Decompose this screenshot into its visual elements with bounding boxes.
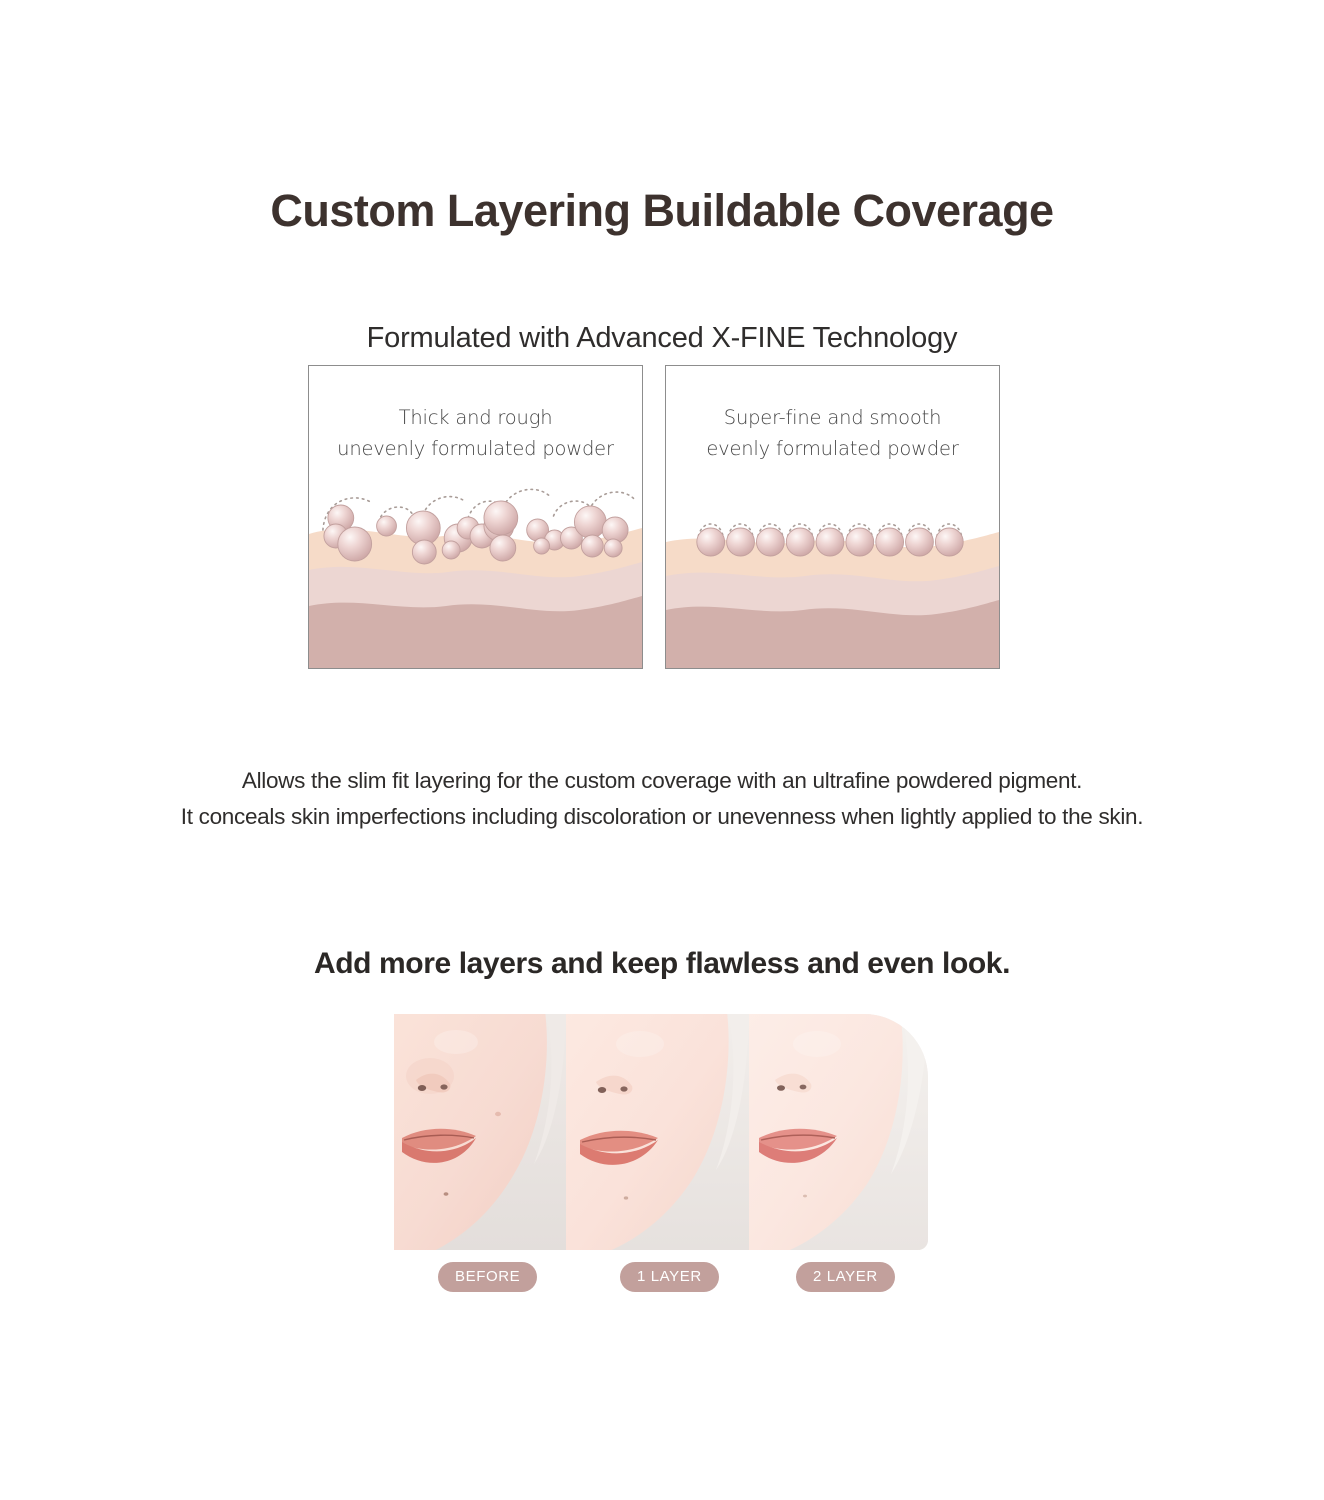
page-title: Custom Layering Buildable Coverage xyxy=(0,185,1324,237)
photo-2-layer xyxy=(749,1014,928,1250)
badge-2-layer: 2 LAYER xyxy=(796,1262,895,1292)
photo-before xyxy=(394,1014,566,1250)
section-title: Add more layers and keep flawless and ev… xyxy=(0,947,1324,981)
face-photo-illustration xyxy=(394,1014,566,1250)
photo-1-layer xyxy=(566,1014,749,1250)
comparison-panels: Thick and rough unevenly formulated powd… xyxy=(308,365,1018,671)
layering-photo-strip xyxy=(394,1014,928,1250)
body-copy: Allows the slim fit layering for the cus… xyxy=(0,763,1324,835)
thick-rough-panel-caption: Thick and rough unevenly formulated powd… xyxy=(309,402,642,464)
badge-1-layer: 1 LAYER xyxy=(620,1262,719,1292)
super-fine-panel: Super-fine and smooth evenly formulated … xyxy=(665,365,1000,669)
even-powder-particles xyxy=(666,456,999,576)
thick-rough-panel: Thick and rough unevenly formulated powd… xyxy=(308,365,643,669)
badge-before: BEFORE xyxy=(438,1262,537,1292)
face-photo-illustration xyxy=(749,1014,928,1250)
layer-badges: BEFORE 1 LAYER 2 LAYER xyxy=(394,1262,928,1292)
face-photo-illustration xyxy=(566,1014,749,1250)
uneven-powder-particles xyxy=(309,456,642,576)
super-fine-panel-caption: Super-fine and smooth evenly formulated … xyxy=(666,402,999,464)
page-subtitle: Formulated with Advanced X-FINE Technolo… xyxy=(0,322,1324,355)
